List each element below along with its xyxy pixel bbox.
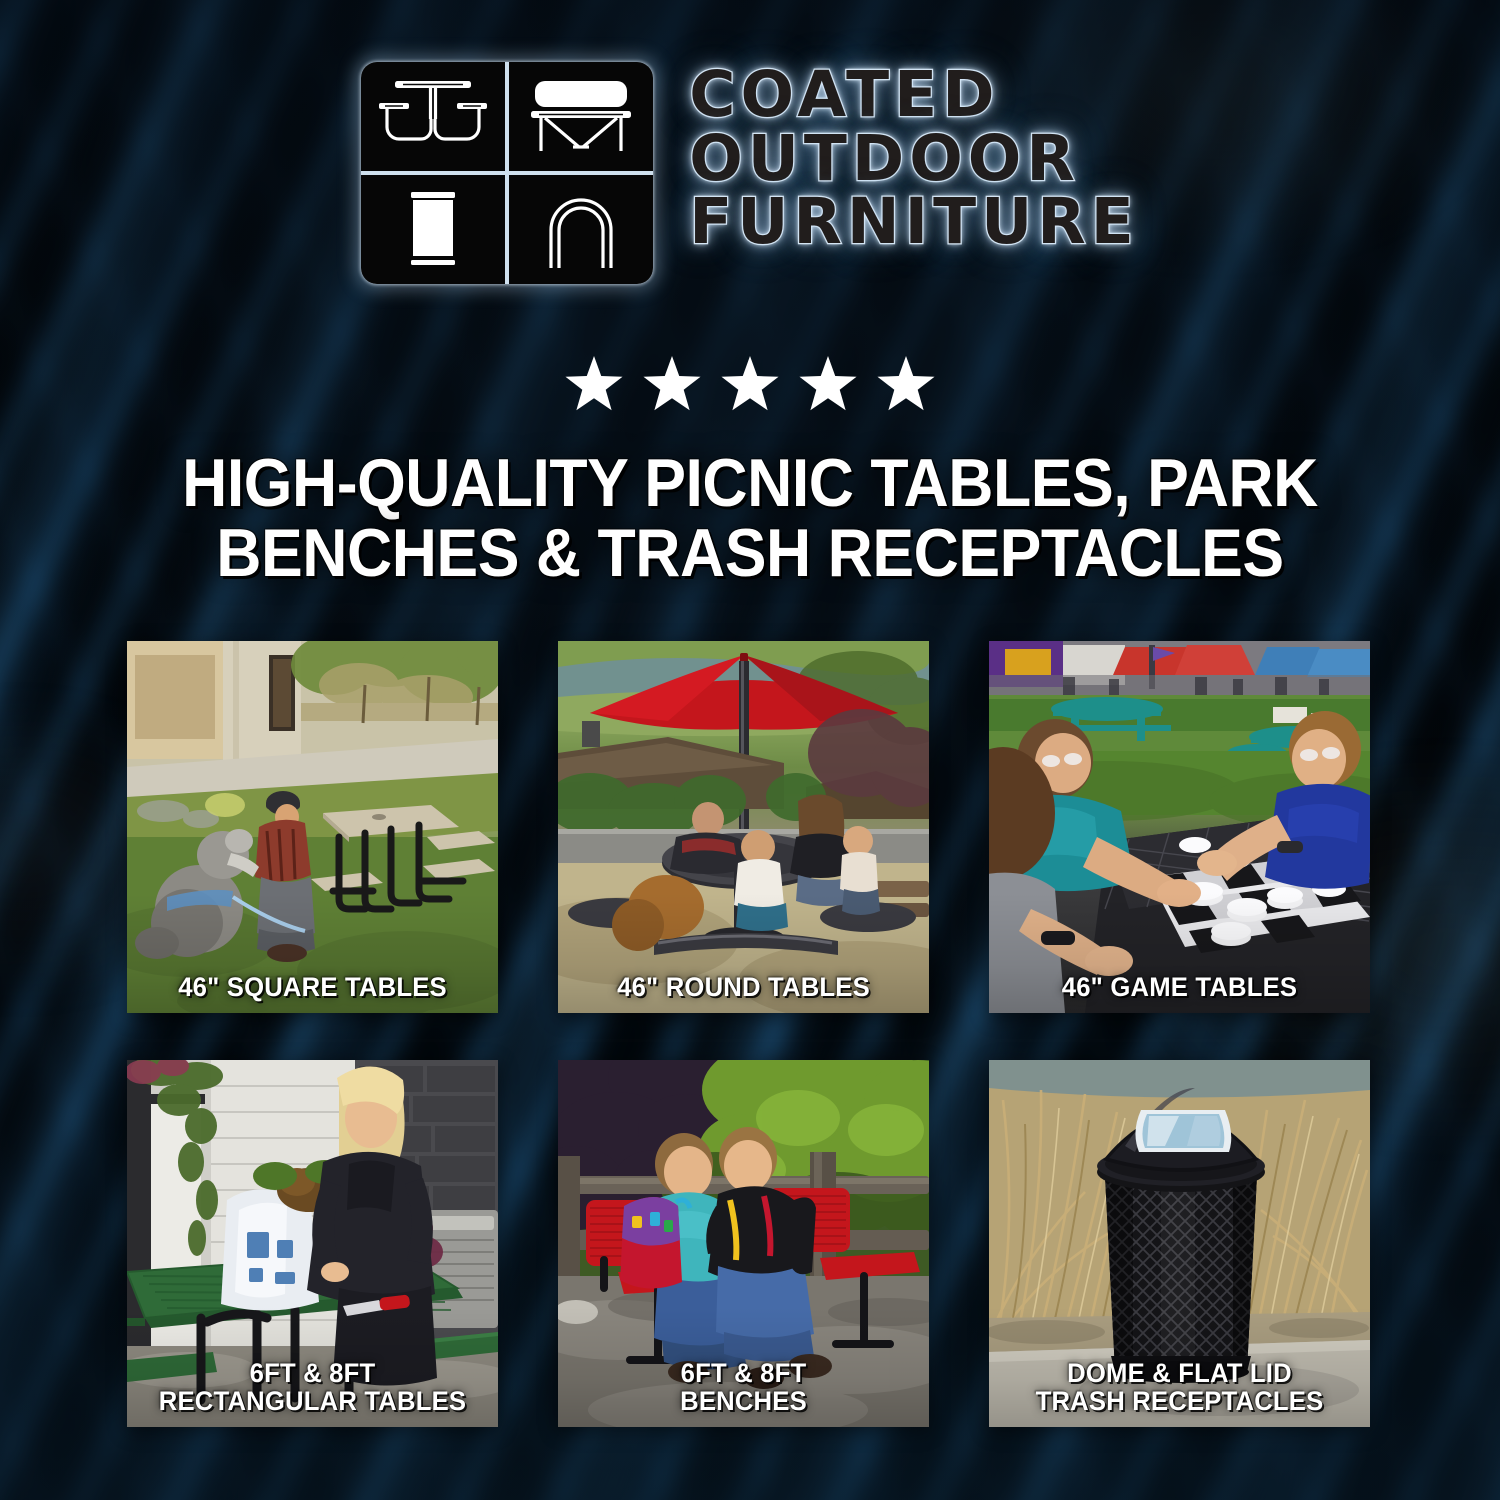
star-icon [875, 356, 937, 416]
product-caption-square-tables: 46" SQUARE TABLES [136, 973, 488, 1001]
star-icon [797, 356, 859, 416]
star-rating [0, 356, 1500, 416]
product-caption-benches: 6FT & 8FT BENCHES [567, 1359, 919, 1415]
bench-icon [509, 62, 653, 171]
brand-line-outdoor: OUTDOOR [689, 128, 1139, 190]
caption-line-1: 46" ROUND TABLES [567, 973, 919, 1001]
picnic-table-icon [361, 62, 505, 171]
brand-wordmark: COATED OUTDOOR FURNITURE [689, 62, 1139, 253]
caption-line-1: 46" GAME TABLES [999, 973, 1361, 1001]
caption-line-1: 6FT & 8FT [567, 1359, 919, 1387]
bike-rack-icon [509, 175, 653, 284]
caption-line-2: BENCHES [567, 1387, 919, 1415]
product-tile-game-tables[interactable]: 46" GAME TABLES [989, 641, 1370, 1013]
product-tile-benches[interactable]: 6FT & 8FT BENCHES [558, 1060, 929, 1427]
product-tile-rectangular-tables[interactable]: 6FT & 8FT RECTANGULAR TABLES [127, 1060, 498, 1427]
product-category-grid: 46" SQUARE TABLES [127, 641, 1381, 1427]
headline-line-2: BENCHES & TRASH RECEPTACLES [60, 518, 1440, 588]
product-caption-round-tables: 46" ROUND TABLES [567, 973, 919, 1001]
product-tile-square-tables[interactable]: 46" SQUARE TABLES [127, 641, 498, 1013]
page-title: HIGH-QUALITY PICNIC TABLES, PARK BENCHES… [60, 448, 1440, 588]
caption-line-1: DOME & FLAT LID [999, 1359, 1361, 1387]
product-tile-round-tables[interactable]: 46" ROUND TABLES [558, 641, 929, 1013]
caption-line-1: 6FT & 8FT [136, 1359, 488, 1387]
caption-line-1: 46" SQUARE TABLES [136, 973, 488, 1001]
trash-receptacle-icon [361, 175, 505, 284]
poster-canvas: COATED OUTDOOR FURNITURE HIGH-QUALITY PI… [0, 0, 1500, 1500]
caption-line-2: RECTANGULAR TABLES [136, 1387, 488, 1415]
brand-line-furniture: FURNITURE [689, 191, 1139, 253]
product-caption-rectangular-tables: 6FT & 8FT RECTANGULAR TABLES [136, 1359, 488, 1415]
product-caption-trash-receptacles: DOME & FLAT LID TRASH RECEPTACLES [999, 1359, 1361, 1415]
product-caption-game-tables: 46" GAME TABLES [999, 973, 1361, 1001]
star-icon [719, 356, 781, 416]
company-logo [361, 62, 653, 284]
headline-line-1: HIGH-QUALITY PICNIC TABLES, PARK [60, 448, 1440, 518]
star-icon [641, 356, 703, 416]
brand-lockup: COATED OUTDOOR FURNITURE [0, 62, 1500, 284]
brand-line-coated: COATED [689, 64, 1139, 126]
product-tile-trash-receptacles[interactable]: DOME & FLAT LID TRASH RECEPTACLES [989, 1060, 1370, 1427]
star-icon [563, 356, 625, 416]
caption-line-2: TRASH RECEPTACLES [999, 1387, 1361, 1415]
